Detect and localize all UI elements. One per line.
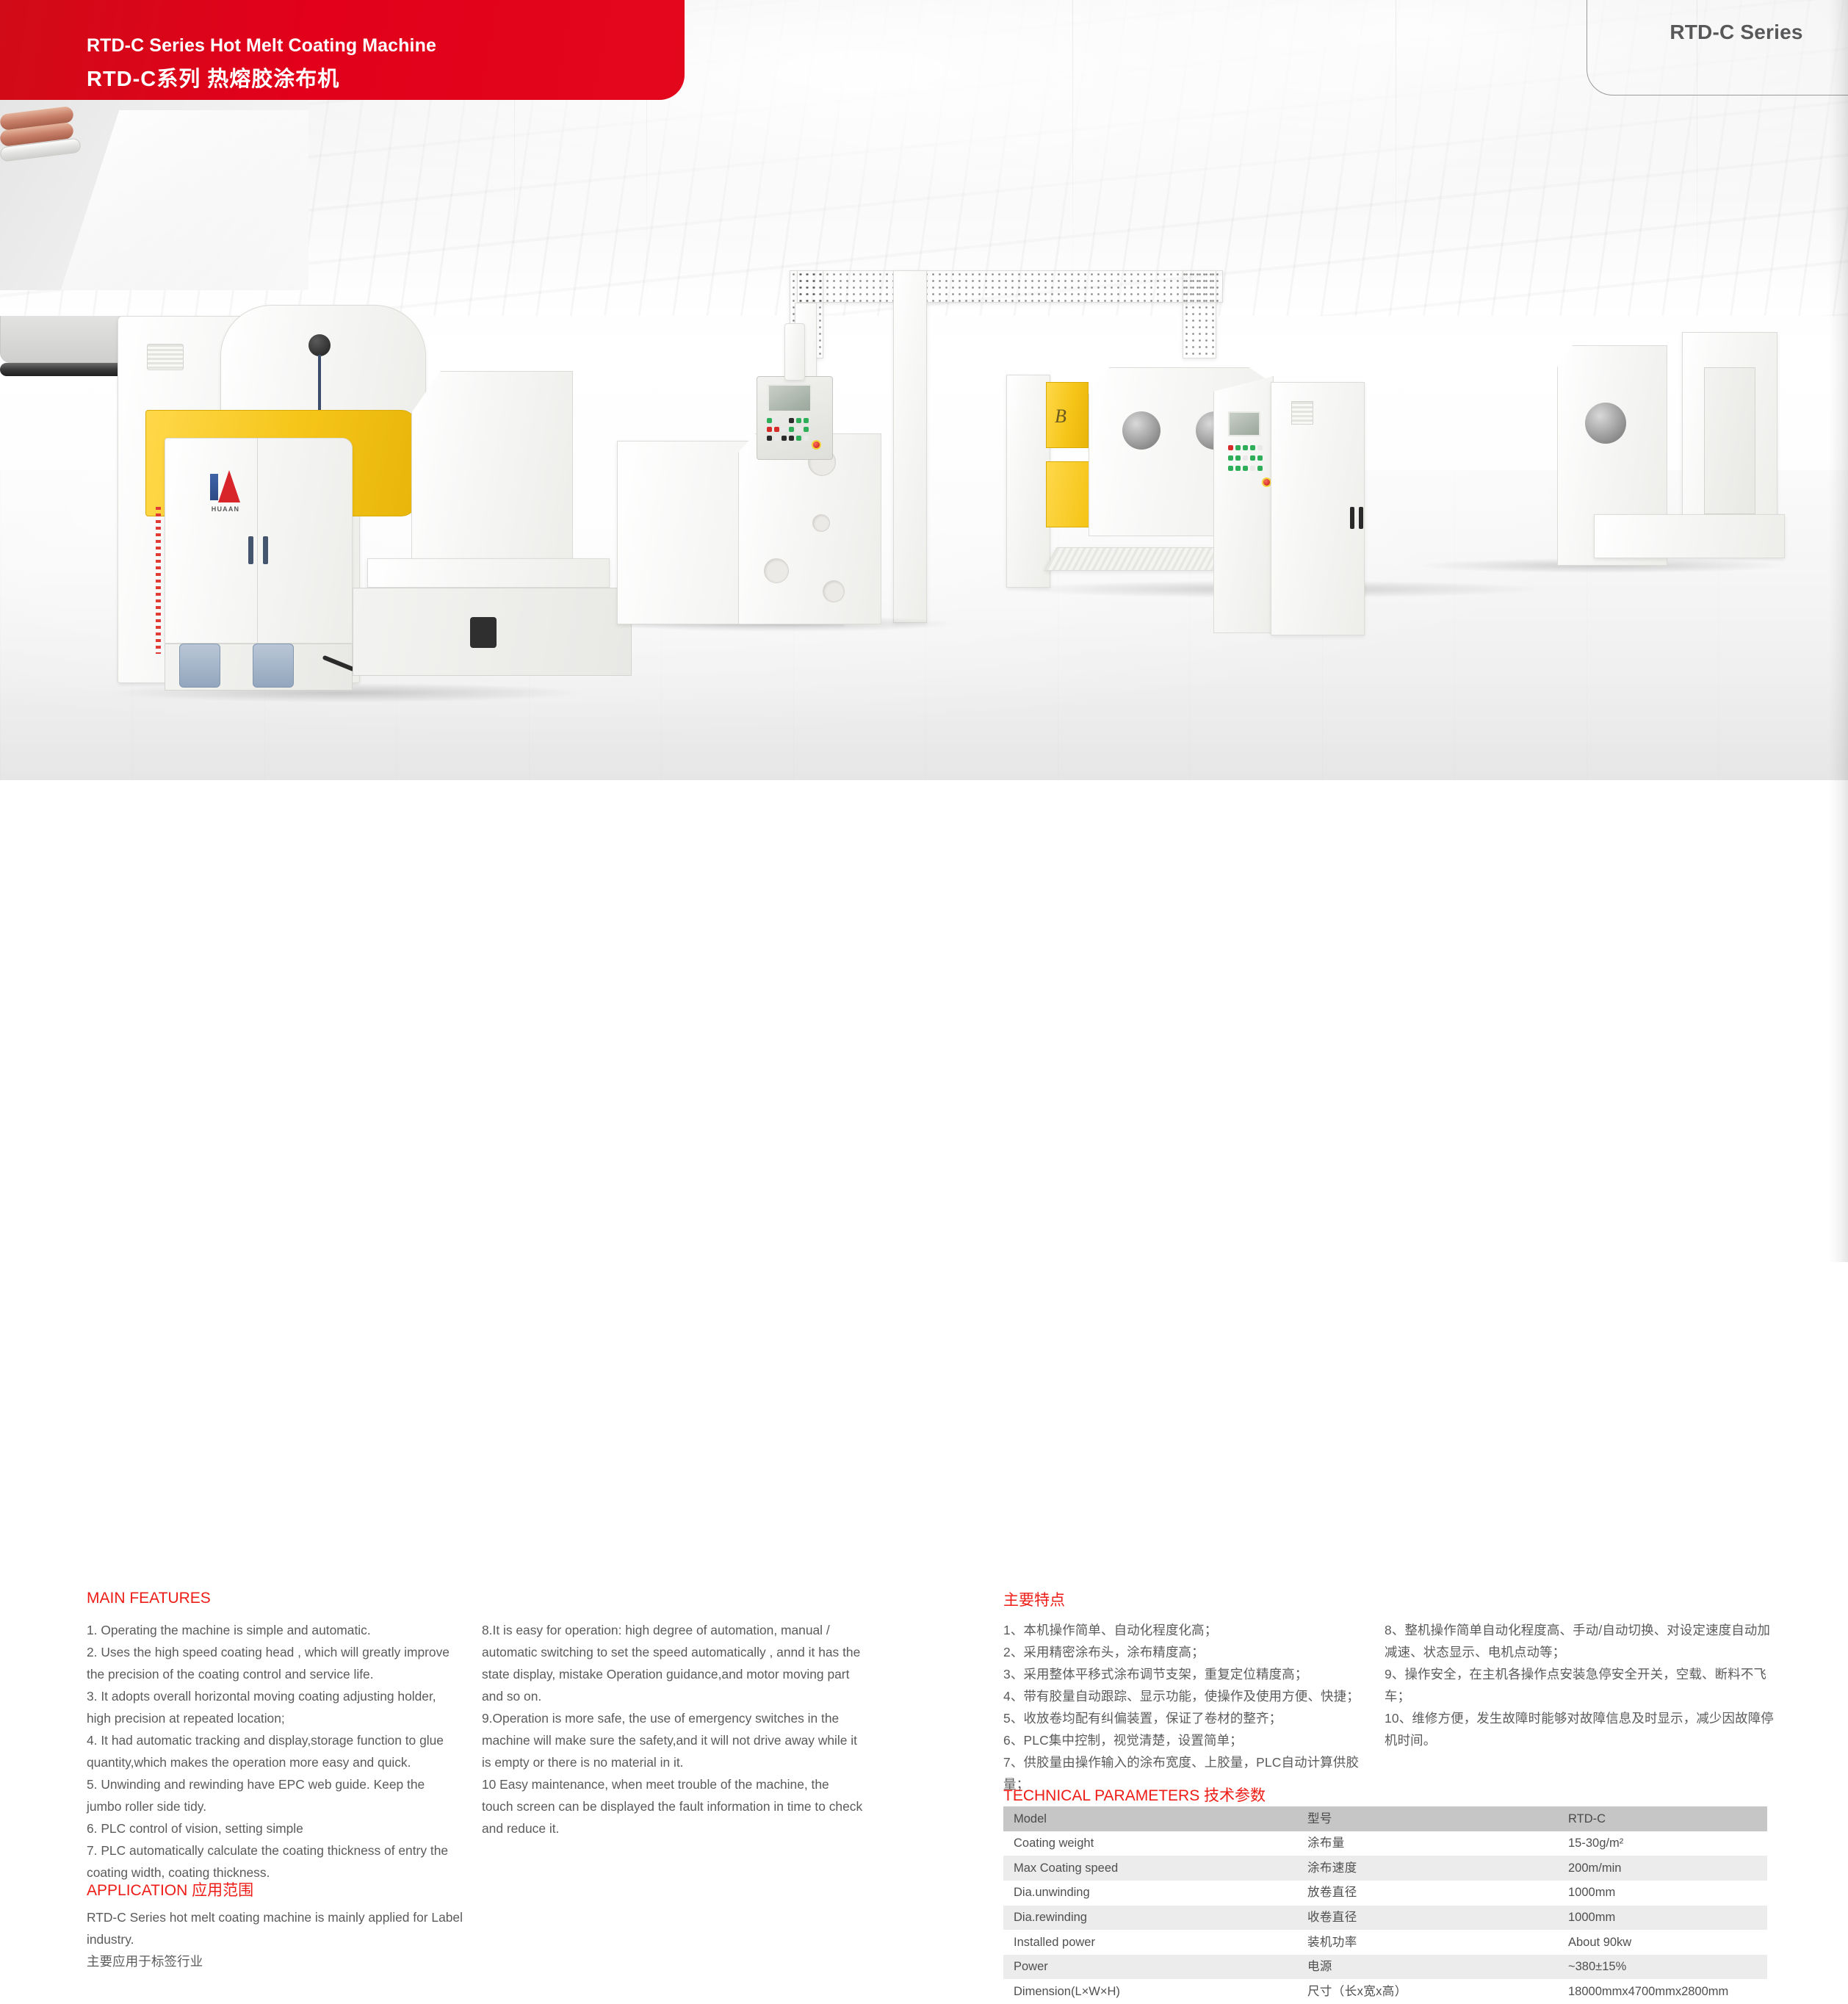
far-chuck [1585,403,1626,444]
technical-parameters-table: Model 型号 RTD-C Coating weight 涂布量 15-30g… [1003,1806,1767,2004]
table-row: Installed power 装机功率 About 90kw [1003,1930,1767,1955]
right-cabinet-vent [1291,401,1313,425]
table-row: Dia.unwinding 放卷直径 1000mm [1003,1881,1767,1906]
hmi-control-panel[interactable] [757,376,833,460]
right-hmi-screen[interactable] [1228,411,1260,436]
param-name-en: Power [1003,1955,1297,1980]
param-value: RTD-C [1558,1806,1767,1831]
param-name-en: Dimension(L×W×H) [1003,1979,1297,2004]
feature-item: 3. It adopts overall horizontal moving c… [87,1685,458,1729]
param-name-cn: 型号 [1297,1806,1558,1831]
param-name-en: Installed power [1003,1930,1297,1955]
brand-logo: HUAAN [192,470,259,513]
feature-item-cn: 10、维修方便，发生故障时能够对故障信息及时显示，减少因故障停机时间。 [1385,1707,1774,1751]
content-area: MAIN FEATURES 1. Operating the machine i… [0,780,1848,1262]
param-value: 18000mmx4700mmx2800mm [1558,1979,1767,2004]
feature-item: 7. PLC automatically calculate the coati… [87,1839,458,1884]
feature-item-cn: 1、本机操作简单、自动化程度化高； [1003,1619,1371,1641]
hmi-screen[interactable] [768,384,812,412]
feature-item: 1. Operating the machine is simple and a… [87,1619,458,1641]
feature-item-cn: 9、操作安全，在主机各操作点安装急停安全开关，空载、断料不飞车； [1385,1663,1774,1707]
series-tag-frame [1587,0,1848,95]
hmi-arm [784,323,805,381]
feature-item: 2. Uses the high speed coating head , wh… [87,1641,458,1685]
small-motor-center [470,617,497,648]
main-features-heading: MAIN FEATURES [87,1590,211,1607]
series-tag-label: RTD-C Series [1587,21,1848,44]
right-cabinet-handle-2 [1359,507,1363,529]
param-value: 15-30g/m² [1558,1831,1767,1856]
brochure-page: HUAAN [0,0,1848,1262]
features-cn-column-2: 8、整机操作简单自动化程度高、手动/自动切换、对设定速度自动加减速、状态显示、电… [1385,1619,1774,1751]
param-name-cn: 装机功率 [1297,1930,1558,1955]
table-row: Max Coating speed 涂布速度 200m/min [1003,1856,1767,1881]
gantry-beam [797,270,1223,303]
banner-title-cn: RTD-C系列 热熔胶涂布机 [87,62,339,93]
param-name-en: Dia.unwinding [1003,1881,1297,1906]
param-name-en: Coating weight [1003,1831,1297,1856]
feature-item: 4. It had automatic tracking and display… [87,1729,458,1773]
table-row: Dimension(L×W×H) 尺寸（长x宽x高） 18000mmx4700m… [1003,1979,1767,2004]
feature-item: 5. Unwinding and rewinding have EPC web … [87,1773,458,1817]
coating-head-knob [308,334,331,356]
features-cn-column-1: 1、本机操作简单、自动化程度化高； 2、采用精密涂布头，涂布精度高； 3、采用整… [1003,1619,1371,1795]
param-value: 1000mm [1558,1906,1767,1931]
application-text: RTD-C Series hot melt coating machine is… [87,1906,469,1972]
rewinder-end-panel [1006,375,1050,588]
machine-vent-left [147,344,184,370]
table-row: Model 型号 RTD-C [1003,1806,1767,1831]
application-heading: APPLICATION 应用范围 [87,1878,253,1900]
product-photo: HUAAN [0,0,1848,780]
web-table [367,558,610,588]
cabinet-handle-left-2 [263,536,268,564]
feature-item-cn: 5、收放卷均配有纠偏装置，保证了卷材的整齐； [1003,1707,1371,1729]
emergency-stop-button[interactable] [812,440,821,450]
feature-item: 10 Easy maintenance, when meet trouble o… [482,1773,864,1839]
far-right-base [1594,514,1785,558]
control-cabinet-left [165,438,353,644]
feature-item-cn: 3、采用整体平移式涂布调节支架，重复定位精度高； [1003,1663,1371,1685]
yellow-block-b [1046,382,1089,448]
application-line: RTD-C Series hot melt coating machine is… [87,1906,469,1950]
param-value: 200m/min [1558,1856,1767,1881]
right-cabinet-handle [1350,507,1354,529]
main-features-column-1: 1. Operating the machine is simple and a… [87,1619,458,1884]
table-row: Power 电源 ~380±15% [1003,1955,1767,1980]
feature-item: 9.Operation is more safe, the use of eme… [482,1707,864,1773]
param-value: 1000mm [1558,1881,1767,1906]
title-banner: RTD-C Series Hot Melt Coating Machine RT… [0,0,685,100]
feature-item-cn: 2、采用精密涂布头，涂布精度高； [1003,1641,1371,1663]
gantry-column [893,270,927,623]
feature-item: 6. PLC control of vision, setting simple [87,1817,458,1839]
banner-title-en: RTD-C Series Hot Melt Coating Machine [87,35,436,57]
machine-letter-mark: B [1055,406,1066,428]
application-line-cn: 主要应用于标签行业 [87,1950,469,1972]
param-name-cn: 放卷直径 [1297,1881,1558,1906]
brand-logo-text: HUAAN [192,505,259,513]
param-value: About 90kw [1558,1930,1767,1955]
features-cn-heading: 主要特点 [1003,1588,1065,1610]
param-name-cn: 涂布量 [1297,1831,1558,1856]
param-name-en: Dia.rewinding [1003,1906,1297,1931]
chuck-1 [1122,411,1161,450]
feature-item-cn: 8、整机操作简单自动化程度高、手动/自动切换、对设定速度自动加减速、状态显示、电… [1385,1619,1774,1663]
feature-item-cn: 6、PLC集中控制，视觉清楚，设置简单； [1003,1729,1371,1751]
gantry-bracket-right [1183,270,1216,358]
table-row: Dia.rewinding 收卷直径 1000mm [1003,1906,1767,1931]
param-value: ~380±15% [1558,1955,1767,1980]
technical-parameters-heading: TECHNICAL PARAMETERS 技术参数 [1003,1784,1266,1806]
param-name-cn: 尺寸（长x宽x高） [1297,1979,1558,2004]
param-name-en: Max Coating speed [1003,1856,1297,1881]
coiled-cable-left [156,507,161,654]
param-name-cn: 收卷直径 [1297,1906,1558,1931]
huaan-arrow-icon [209,470,242,504]
feature-item: 8.It is easy for operation: high degree … [482,1619,864,1707]
far-right-cabinet-door [1704,367,1755,514]
cabinet-handle-left [248,536,253,564]
main-features-column-2: 8.It is easy for operation: high degree … [482,1619,864,1839]
unwind-frame [411,371,573,562]
feature-item-cn: 4、带有胶量自动跟踪、显示功能，使操作及使用方便、快捷； [1003,1685,1371,1707]
param-name-cn: 电源 [1297,1955,1558,1980]
table-row: Coating weight 涂布量 15-30g/m² [1003,1831,1767,1856]
coating-head-rod [318,355,321,414]
param-name-en: Model [1003,1806,1297,1831]
param-name-cn: 涂布速度 [1297,1856,1558,1881]
